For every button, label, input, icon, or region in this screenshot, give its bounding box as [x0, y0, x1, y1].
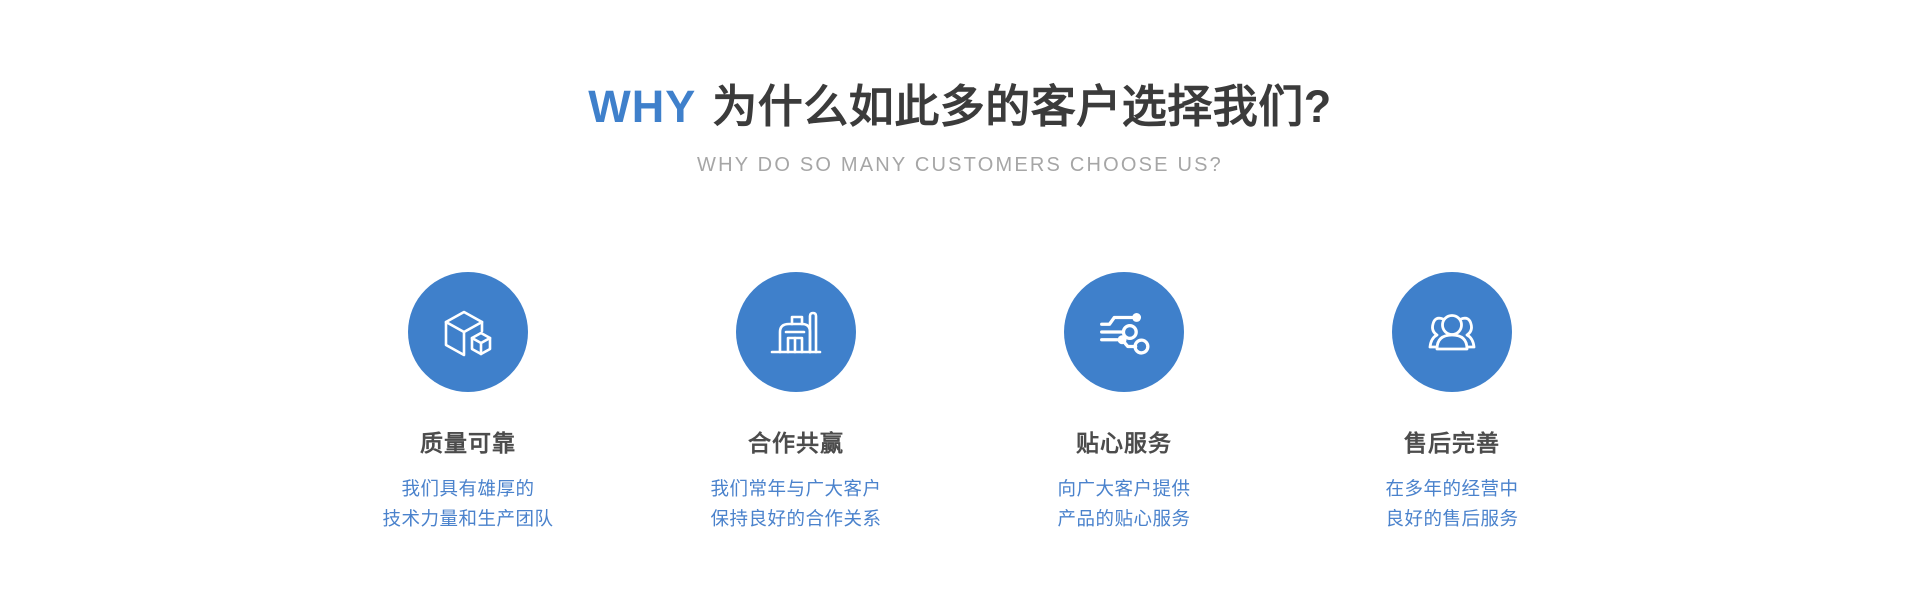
card-description-line-1: 我们常年与广大客户 [710, 474, 881, 504]
page-title: WHY为什么如此多的客户选择我们? [0, 82, 1920, 132]
icon-circle-aftersales [1392, 272, 1512, 392]
feature-card-cooperation[interactable]: 合作共赢 我们常年与广大客户 保持良好的合作关系 [632, 272, 960, 534]
card-description-line-2: 保持良好的合作关系 [710, 504, 881, 534]
why-choose-us-section: WHY为什么如此多的客户选择我们? WHY DO SO MANY CUSTOME… [0, 0, 1920, 615]
card-description-line-2: 产品的贴心服务 [1057, 504, 1190, 534]
card-description-line-1: 向广大客户提供 [1057, 474, 1190, 504]
card-description: 在多年的经营中 良好的售后服务 [1385, 474, 1518, 534]
feature-card-quality[interactable]: 质量可靠 我们具有雄厚的 技术力量和生产团队 [304, 272, 632, 534]
card-description: 我们常年与广大客户 保持良好的合作关系 [710, 474, 881, 534]
card-description-line-1: 我们具有雄厚的 [382, 474, 553, 504]
title-eyebrow-why: WHY [588, 81, 696, 132]
card-title: 合作共赢 [748, 430, 844, 458]
factory-icon [764, 300, 828, 364]
card-description: 我们具有雄厚的 技术力量和生产团队 [382, 474, 553, 534]
icon-circle-service [1064, 272, 1184, 392]
card-description-line-1: 在多年的经营中 [1385, 474, 1518, 504]
feature-card-aftersales[interactable]: 售后完善 在多年的经营中 良好的售后服务 [1288, 272, 1616, 534]
icon-circle-cooperation [736, 272, 856, 392]
feature-cards-row: 质量可靠 我们具有雄厚的 技术力量和生产团队 [0, 272, 1920, 534]
card-title: 贴心服务 [1076, 430, 1172, 458]
card-title: 售后完善 [1404, 430, 1500, 458]
card-title: 质量可靠 [420, 430, 516, 458]
card-description-line-2: 技术力量和生产团队 [382, 504, 553, 534]
title-chinese: 为什么如此多的客户选择我们? [712, 81, 1332, 132]
feature-card-service[interactable]: 贴心服务 向广大客户提供 产品的贴心服务 [960, 272, 1288, 534]
icon-circle-quality [408, 272, 528, 392]
circuit-network-icon [1093, 301, 1155, 363]
card-description-line-2: 良好的售后服务 [1385, 504, 1518, 534]
card-description: 向广大客户提供 产品的贴心服务 [1057, 474, 1190, 534]
section-header: WHY为什么如此多的客户选择我们? WHY DO SO MANY CUSTOME… [0, 0, 1920, 177]
page-subtitle: WHY DO SO MANY CUSTOMERS CHOOSE US? [0, 154, 1920, 177]
package-box-icon [436, 300, 500, 364]
users-group-icon [1420, 300, 1484, 364]
